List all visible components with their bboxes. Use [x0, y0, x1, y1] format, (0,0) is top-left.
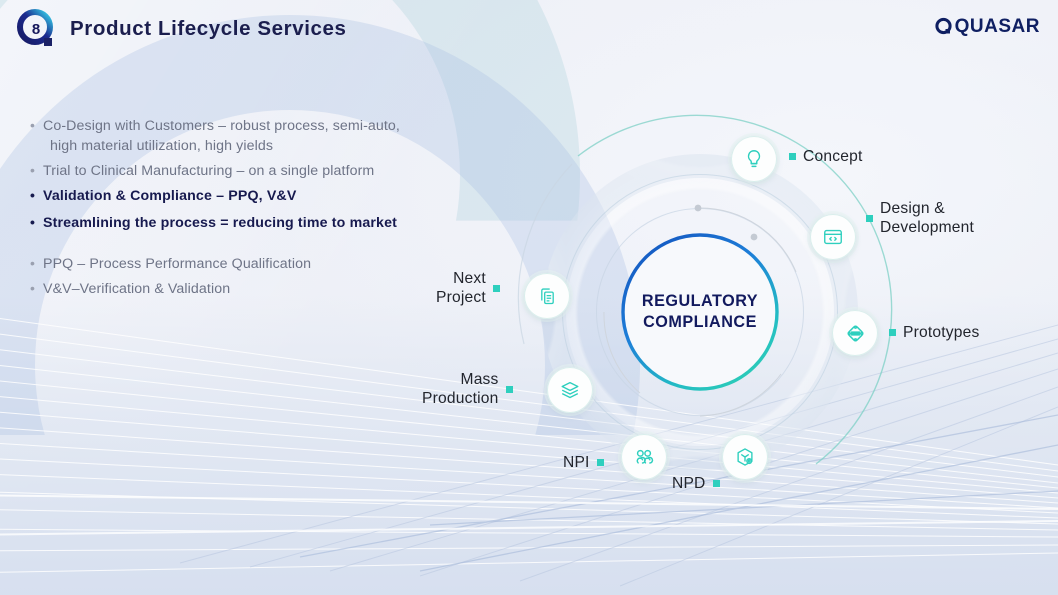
label-text: Design & Development	[880, 199, 974, 237]
bullet-text-line1: Validation & Compliance – PPQ, V&V	[43, 186, 500, 206]
bullet-dot: •	[30, 213, 43, 233]
label-square-icon	[506, 386, 513, 393]
bullet-spacer	[30, 239, 500, 254]
footnote-item: • PPQ – Process Performance Qualificatio…	[30, 254, 500, 274]
bullet-item: • Validation & Compliance – PPQ, V&V	[30, 186, 500, 206]
bullet-dot: •	[30, 161, 43, 181]
node-npi[interactable]	[618, 431, 670, 483]
label-npd: NPD	[672, 474, 720, 493]
lifecycle-diagram: REGULATORY COMPLIANCE	[500, 112, 900, 512]
bullet-dot: •	[30, 254, 43, 274]
footnote-item: • V&V–Verification & Validation	[30, 279, 500, 299]
bullet-dot: •	[30, 186, 43, 206]
node-next-project[interactable]	[521, 270, 573, 322]
bullet-text-line1: Streamlining the process = reducing time…	[43, 213, 500, 233]
label-square-icon	[597, 459, 604, 466]
label-text: Next Project	[436, 269, 486, 307]
node-concept[interactable]	[728, 133, 780, 185]
center-circle: REGULATORY COMPLIANCE	[618, 230, 782, 394]
brand-logo-text: QUASAR	[955, 16, 1040, 38]
bullet-list: • Co-Design with Customers – robust proc…	[30, 116, 500, 304]
label-text: NPI	[563, 453, 590, 472]
center-label-line1: REGULATORY	[642, 291, 758, 312]
label-square-icon	[713, 480, 720, 487]
label-mass-production: Mass Production	[422, 370, 513, 408]
label-text-line1: Design &	[880, 200, 945, 217]
label-text: Prototypes	[903, 323, 980, 342]
slide-header: 8 Product Lifecycle Services QUASAR	[0, 0, 1058, 58]
documents-icon	[537, 286, 558, 307]
code-window-icon	[822, 226, 844, 248]
label-prototypes: Prototypes	[889, 323, 980, 342]
slide: 8 Product Lifecycle Services QUASAR • Co…	[0, 0, 1058, 595]
layers-icon	[559, 379, 581, 401]
node-npd[interactable]	[719, 431, 771, 483]
hexagon-cube-icon	[734, 446, 756, 468]
connector-dot	[695, 205, 702, 212]
page-title: Product Lifecycle Services	[70, 17, 347, 41]
label-square-icon	[889, 329, 896, 336]
label-square-icon	[493, 285, 500, 292]
center-label: REGULATORY COMPLIANCE	[618, 230, 782, 394]
slide-number-text: 8	[14, 7, 58, 51]
center-label-line2: COMPLIANCE	[643, 312, 757, 333]
bullet-item: • Trial to Clinical Manufacturing – on a…	[30, 161, 500, 181]
bullet-text-line1: Trial to Clinical Manufacturing – on a s…	[43, 161, 500, 181]
label-text: Concept	[803, 147, 862, 166]
node-design-development[interactable]	[807, 211, 859, 263]
node-mass-production[interactable]	[544, 364, 596, 416]
bullet-item: • Co-Design with Customers – robust proc…	[30, 116, 500, 156]
bullet-text-line2: high material utilization, high yields	[43, 136, 500, 156]
footnote-text: V&V–Verification & Validation	[43, 279, 500, 299]
bullet-text-line1: Co-Design with Customers – robust proces…	[43, 118, 400, 134]
label-text-line2: Production	[422, 390, 499, 407]
bullet-dot: •	[30, 279, 43, 299]
slide-number-badge: 8	[14, 7, 58, 51]
footnote-text: PPQ – Process Performance Qualification	[43, 254, 500, 274]
label-text-line1: Next	[453, 270, 486, 287]
label-npi: NPI	[563, 453, 604, 472]
label-text-line2: Development	[880, 219, 974, 236]
label-square-icon	[866, 215, 873, 222]
bullet-dot: •	[30, 116, 43, 156]
quasar-q-icon	[933, 16, 955, 38]
label-square-icon	[789, 153, 796, 160]
label-text-line2: Project	[436, 289, 486, 306]
label-next-project: Next Project	[436, 269, 500, 307]
circuit-chip-icon	[844, 322, 867, 345]
lightbulb-icon	[743, 148, 765, 170]
label-text: Mass Production	[422, 370, 499, 408]
label-text: NPD	[672, 474, 706, 493]
label-design-development: Design & Development	[866, 199, 974, 237]
label-text-line1: Mass	[461, 371, 499, 388]
bullet-item: • Streamlining the process = reducing ti…	[30, 213, 500, 233]
brand-logo: QUASAR	[933, 16, 1040, 38]
label-concept: Concept	[789, 147, 862, 166]
node-prototypes[interactable]	[829, 307, 881, 359]
four-circles-icon	[633, 446, 655, 468]
